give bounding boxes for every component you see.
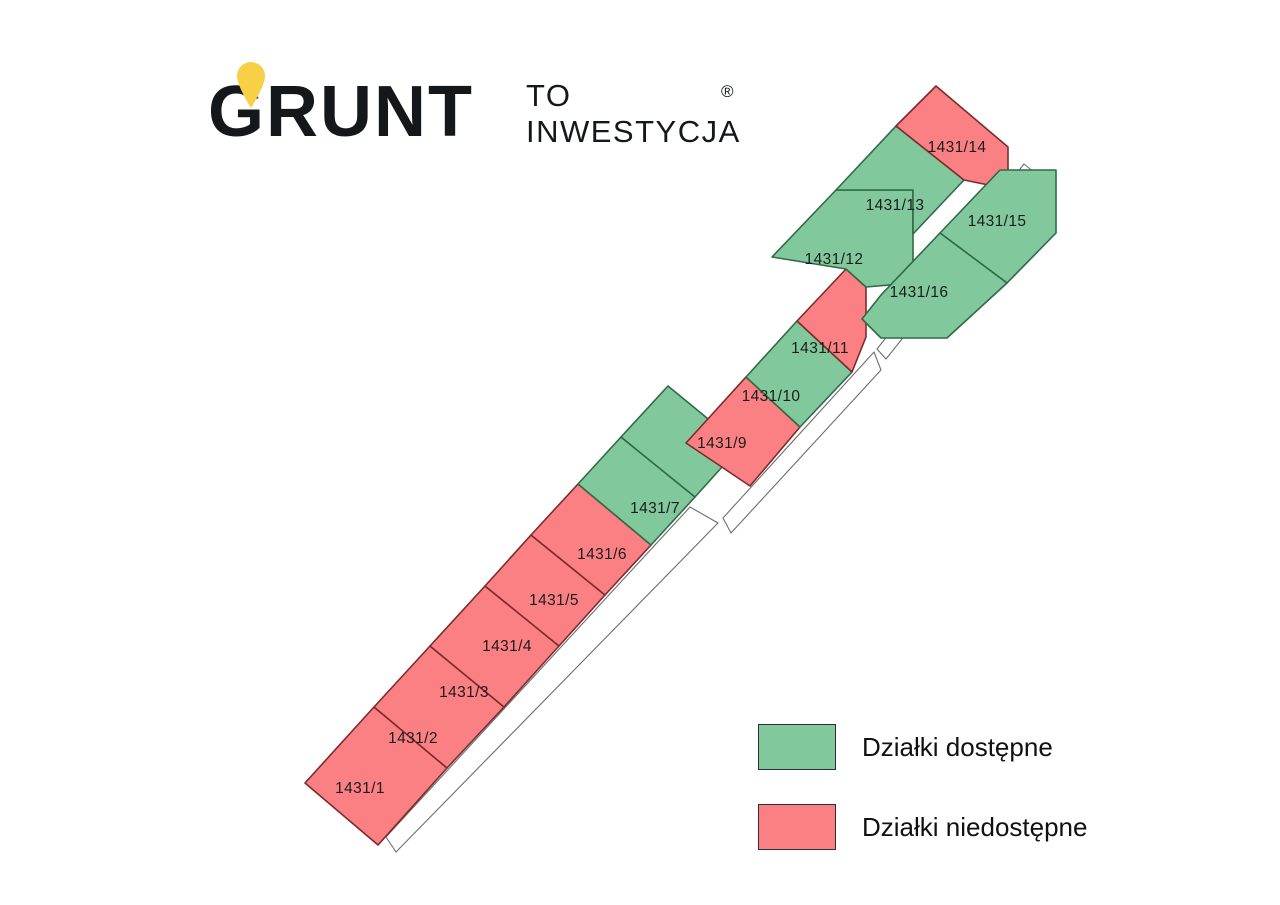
legend-label-unavailable: Działki niedostępne [862, 812, 1087, 842]
legend-swatch-available [758, 724, 836, 770]
legend-item-unavailable: Działki niedostępne [758, 796, 1178, 858]
legend-item-available: Działki dostępne [758, 716, 1178, 778]
legend-swatch-unavailable [758, 804, 836, 850]
map-pin-icon [237, 62, 265, 108]
legend-label-available: Działki dostępne [862, 732, 1053, 762]
map-legend: Działki dostępne Działki niedostępne [758, 716, 1178, 858]
